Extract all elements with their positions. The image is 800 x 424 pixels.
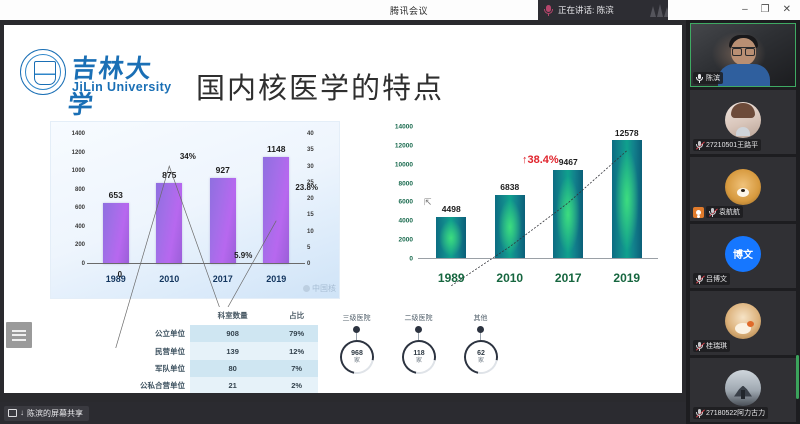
right-chart-x-axis: 1989201020172019 xyxy=(422,267,656,289)
table-cell-count: 80 xyxy=(190,360,275,377)
gauge-label: 其他 xyxy=(458,313,503,323)
left-chart-y-axis: 1400120010008006004002000 xyxy=(53,134,87,264)
active-speaker-indicator[interactable]: 正在讲话: 陈滨 xyxy=(538,0,668,20)
avatar: 博文 xyxy=(725,236,761,272)
participant-tile-2[interactable]: 27210501王路平 xyxy=(690,90,796,154)
participant-panel[interactable]: 陈滨27210501王路平袁航航博文吕博文桂瑞琪27180522阿力古力 xyxy=(686,20,800,424)
left-chart-y-tick: 600 xyxy=(75,205,85,211)
title-bar-left-spacer xyxy=(0,0,340,20)
right-chart-y-tick: 10000 xyxy=(395,161,413,168)
gauge: 三级医院968家 xyxy=(334,313,379,374)
university-logo: 吉林大学 JiLin University xyxy=(20,47,172,99)
gauge-group: 三级医院968家二级医院118家其他62家 xyxy=(334,313,504,374)
participant-name-badge: 桂瑞琪 xyxy=(693,340,730,352)
window-controls: – ❐ ✕ xyxy=(668,0,800,20)
table-row: 民营单位13912% xyxy=(128,342,318,359)
table-row: 军队单位807% xyxy=(128,360,318,377)
university-seal-icon xyxy=(20,49,66,95)
gauge-value: 118 xyxy=(413,350,424,357)
table-cell-pct: 2% xyxy=(275,377,318,393)
left-chart-x-tick: 2019 xyxy=(259,274,293,284)
slide-list-icon[interactable] xyxy=(6,322,32,348)
left-chart-y-tick: 1200 xyxy=(72,150,85,156)
watermark-dot-icon xyxy=(303,285,310,292)
host-badge-icon xyxy=(693,207,704,218)
table-header-pct: 占比 xyxy=(275,307,318,325)
gauge: 二级医院118家 xyxy=(396,313,441,374)
department-table: 科室数量 占比 公立单位90879%民营单位13912%军队单位807%公私合营… xyxy=(128,307,318,393)
right-chart-x-tick: 2017 xyxy=(546,271,590,285)
table-cell-pct: 12% xyxy=(275,342,318,359)
maximize-button[interactable]: ❐ xyxy=(761,5,770,15)
left-chart-y-tick: 800 xyxy=(75,187,85,193)
participant-tile-5[interactable]: 桂瑞琪 xyxy=(690,291,796,355)
table-cell-label: 军队单位 xyxy=(128,360,190,377)
left-chart-pct-label: 0 xyxy=(118,270,122,279)
left-chart-y2-tick: 10 xyxy=(307,229,314,235)
participant-name-badge: 袁航航 xyxy=(706,206,743,218)
right-chart-x-tick: 2010 xyxy=(488,271,532,285)
participant-name: 27210501王路平 xyxy=(706,140,758,150)
table-cell-label: 民营单位 xyxy=(128,342,190,359)
microphone-icon xyxy=(695,73,704,83)
participant-name-badge: 27180522阿力古力 xyxy=(693,407,768,419)
table-row: 公私合营单位212% xyxy=(128,377,318,393)
meeting-window: 腾讯会议 正在讲话: 陈滨 – ❐ ✕ 吉林大学 JiLin Universit… xyxy=(0,0,800,424)
gauge-dot-icon xyxy=(415,326,422,333)
left-chart-baseline xyxy=(87,263,305,264)
gauge-value: 62 xyxy=(477,350,485,357)
participant-name: 桂瑞琪 xyxy=(706,341,727,351)
participant-tile-3[interactable]: 袁航航 xyxy=(690,157,796,221)
gauge: 其他62家 xyxy=(458,313,503,374)
status-bar: ↓ 陈滨的屏幕共享 xyxy=(0,402,686,424)
right-chart-annotation: ↑38.4% xyxy=(522,154,559,166)
participant-tile-1[interactable]: 陈滨 xyxy=(690,23,796,87)
gauge-label: 三级医院 xyxy=(334,313,379,323)
presentation-slide: 吉林大学 JiLin University 国内核医学的特点 140012001… xyxy=(4,25,682,393)
right-bar-chart: 14000120001000080006000400020000 4498683… xyxy=(382,121,664,303)
university-name-en: JiLin University xyxy=(72,80,172,94)
participant-name: 袁航航 xyxy=(719,207,740,217)
gauge-unit: 家 xyxy=(415,358,421,364)
left-chart-pct-label: 34% xyxy=(180,152,196,161)
microphone-muted-icon xyxy=(695,274,704,284)
charts-row: 1400120010008006004002000 40353025201510… xyxy=(4,113,682,303)
gauge-dot-icon xyxy=(353,326,360,333)
right-chart-y-tick: 14000 xyxy=(395,124,413,131)
screen-share-status[interactable]: ↓ 陈滨的屏幕共享 xyxy=(4,406,89,421)
microphone-muted-icon xyxy=(695,341,704,351)
gauge-ring: 118家 xyxy=(395,333,442,380)
slide-header: 吉林大学 JiLin University 国内核医学的特点 xyxy=(4,25,682,103)
participant-panel-scrollbar[interactable] xyxy=(796,355,799,399)
left-chart-y-tick: 1000 xyxy=(72,168,85,174)
left-chart-x-tick: 2017 xyxy=(206,274,240,284)
right-chart-y-axis: 14000120001000080006000400020000 xyxy=(382,127,416,259)
left-chart-x-tick: 1989 xyxy=(99,274,133,284)
right-chart-x-tick: 1989 xyxy=(429,271,473,285)
participant-tile-4[interactable]: 博文吕博文 xyxy=(690,224,796,288)
left-chart-y2-tick: 15 xyxy=(307,212,314,218)
gauge-ring: 968家 xyxy=(333,333,380,380)
left-chart-y2-tick: 35 xyxy=(307,147,314,153)
shared-screen-area[interactable]: 吉林大学 JiLin University 国内核医学的特点 140012001… xyxy=(0,20,686,402)
slide-title: 国内核医学的特点 xyxy=(196,65,444,107)
minimize-button[interactable]: – xyxy=(742,5,748,15)
gauge-unit: 家 xyxy=(353,358,359,364)
right-chart-y-tick: 6000 xyxy=(399,199,413,206)
left-bar-chart: 1400120010008006004002000 40353025201510… xyxy=(50,121,340,299)
monitor-icon xyxy=(8,409,17,417)
left-chart-y2-tick: 20 xyxy=(307,196,314,202)
table-row: 公立单位90879% xyxy=(128,325,318,342)
slide-bottom-row: 科室数量 占比 公立单位90879%民营单位13912%军队单位807%公私合营… xyxy=(4,307,682,391)
right-chart-x-tick: 2019 xyxy=(605,271,649,285)
participant-name: 27180522阿力古力 xyxy=(706,408,765,418)
table-header-row: 科室数量 占比 xyxy=(128,307,318,325)
right-chart-y-tick: 8000 xyxy=(399,180,413,187)
app-title: 腾讯会议 xyxy=(340,4,428,17)
left-chart-secondary-y-axis: 4035302520151050 xyxy=(304,134,338,264)
active-speaker-label: 正在讲话: 陈滨 xyxy=(558,4,614,16)
watermark-text: 中国核 xyxy=(312,283,336,294)
right-chart-y-tick: 0 xyxy=(409,256,413,263)
table-cell-pct: 79% xyxy=(275,325,318,342)
chart-watermark: 中国核 xyxy=(303,283,336,294)
avatar xyxy=(725,303,761,339)
table-cell-count: 21 xyxy=(190,377,275,393)
participant-name-badge: 吕博文 xyxy=(693,273,730,285)
participant-name-badge: 陈滨 xyxy=(693,72,723,84)
left-chart-y2-tick: 0 xyxy=(307,261,310,267)
right-chart-y-tick: 12000 xyxy=(395,142,413,149)
table-header-label xyxy=(128,307,190,325)
download-arrow-icon: ↓ xyxy=(20,409,24,417)
close-button[interactable]: ✕ xyxy=(783,5,791,15)
left-chart-x-tick: 2010 xyxy=(152,274,186,284)
right-chart-baseline xyxy=(418,258,658,259)
table-cell-label: 公立单位 xyxy=(128,325,190,342)
table-cell-count: 908 xyxy=(190,325,275,342)
mouse-cursor-icon: ⇱ xyxy=(424,197,431,207)
left-chart-y-tick: 1400 xyxy=(72,131,85,137)
gauge-value: 968 xyxy=(351,350,363,357)
left-chart-y-tick: 0 xyxy=(82,261,85,267)
left-chart-y2-tick: 40 xyxy=(307,131,314,137)
microphone-icon xyxy=(543,4,554,16)
participant-name: 吕博文 xyxy=(706,274,727,284)
left-chart-pct-label: 23.8% xyxy=(295,183,318,192)
table-cell-pct: 7% xyxy=(275,360,318,377)
avatar xyxy=(725,102,761,138)
right-chart-y-tick: 4000 xyxy=(399,218,413,225)
table-header-count: 科室数量 xyxy=(190,307,275,325)
left-chart-y-tick: 200 xyxy=(75,242,85,248)
screen-share-label: 陈滨的屏幕共享 xyxy=(27,408,83,419)
participant-name-badge: 27210501王路平 xyxy=(693,139,761,151)
microphone-muted-icon xyxy=(708,207,717,217)
avatar xyxy=(725,370,761,406)
table-cell-count: 139 xyxy=(190,342,275,359)
gauge-unit: 家 xyxy=(477,358,483,364)
left-chart-pct-label: 5.9% xyxy=(234,251,252,260)
left-chart-y2-tick: 5 xyxy=(307,245,310,251)
avatar xyxy=(725,169,761,205)
right-chart-y-tick: 2000 xyxy=(399,237,413,244)
left-chart-y2-tick: 30 xyxy=(307,164,314,170)
table-cell-label: 公私合营单位 xyxy=(128,377,190,393)
microphone-muted-icon xyxy=(695,140,704,150)
left-chart-y-tick: 400 xyxy=(75,224,85,230)
participant-name: 陈滨 xyxy=(706,73,720,83)
gauge-label: 二级医院 xyxy=(396,313,441,323)
participant-tile-6[interactable]: 27180522阿力古力 xyxy=(690,358,796,422)
gauge-dot-icon xyxy=(477,326,484,333)
microphone-muted-icon xyxy=(695,408,704,418)
gauge-ring: 62家 xyxy=(457,333,504,380)
